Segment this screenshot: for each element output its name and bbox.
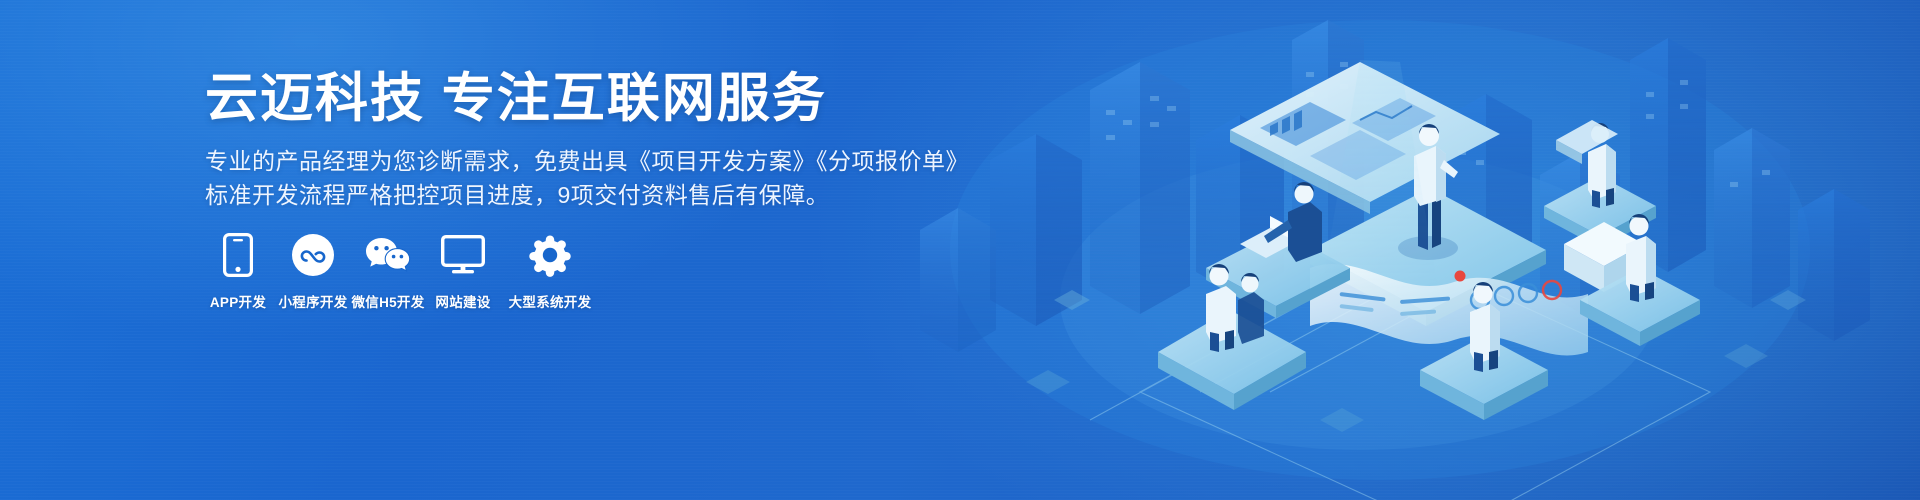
feature-list: APP开发 小程序开发 — [202, 232, 598, 311]
banner-content: 云迈科技 专注互联网服务 专业的产品经理为您诊断需求，免费出具《项目开发方案》《… — [0, 0, 980, 500]
feature-item-wechat[interactable]: 微信H5开发 — [352, 232, 424, 311]
feature-item-system[interactable]: 大型系统开发 — [502, 232, 598, 311]
illustration-container — [840, 0, 1920, 500]
feature-item-app[interactable]: APP开发 — [202, 232, 274, 311]
feature-label-system: 大型系统开发 — [509, 291, 592, 311]
feature-label-miniprogram: 小程序开发 — [279, 291, 348, 311]
subtitle-block: 专业的产品经理为您诊断需求，免费出具《项目开发方案》《分项报价单》 标准开发流程… — [205, 144, 969, 212]
mobile-phone-icon — [223, 232, 253, 278]
subtitle-line-1: 专业的产品经理为您诊断需求，免费出具《项目开发方案》《分项报价单》 — [205, 144, 969, 178]
alert-dot — [1455, 271, 1466, 282]
monitor-icon — [441, 232, 485, 278]
feature-label-website: 网站建设 — [435, 291, 490, 311]
isometric-tech-illustration — [840, 0, 1920, 500]
hero-banner: 云迈科技 专注互联网服务 专业的产品经理为您诊断需求，免费出具《项目开发方案》《… — [0, 0, 1920, 500]
gear-icon — [528, 232, 572, 278]
feature-item-website[interactable]: 网站建设 — [427, 232, 499, 311]
page-title: 云迈科技 专注互联网服务 — [205, 69, 827, 130]
subtitle-line-2: 标准开发流程严格把控项目进度，9项交付资料售后有保障。 — [205, 178, 969, 212]
feature-label-wechat: 微信H5开发 — [351, 291, 424, 311]
feature-item-miniprogram[interactable]: 小程序开发 — [277, 232, 349, 311]
feature-label-app: APP开发 — [210, 291, 266, 311]
wechat-icon — [363, 232, 413, 278]
mini-program-icon — [291, 232, 335, 278]
